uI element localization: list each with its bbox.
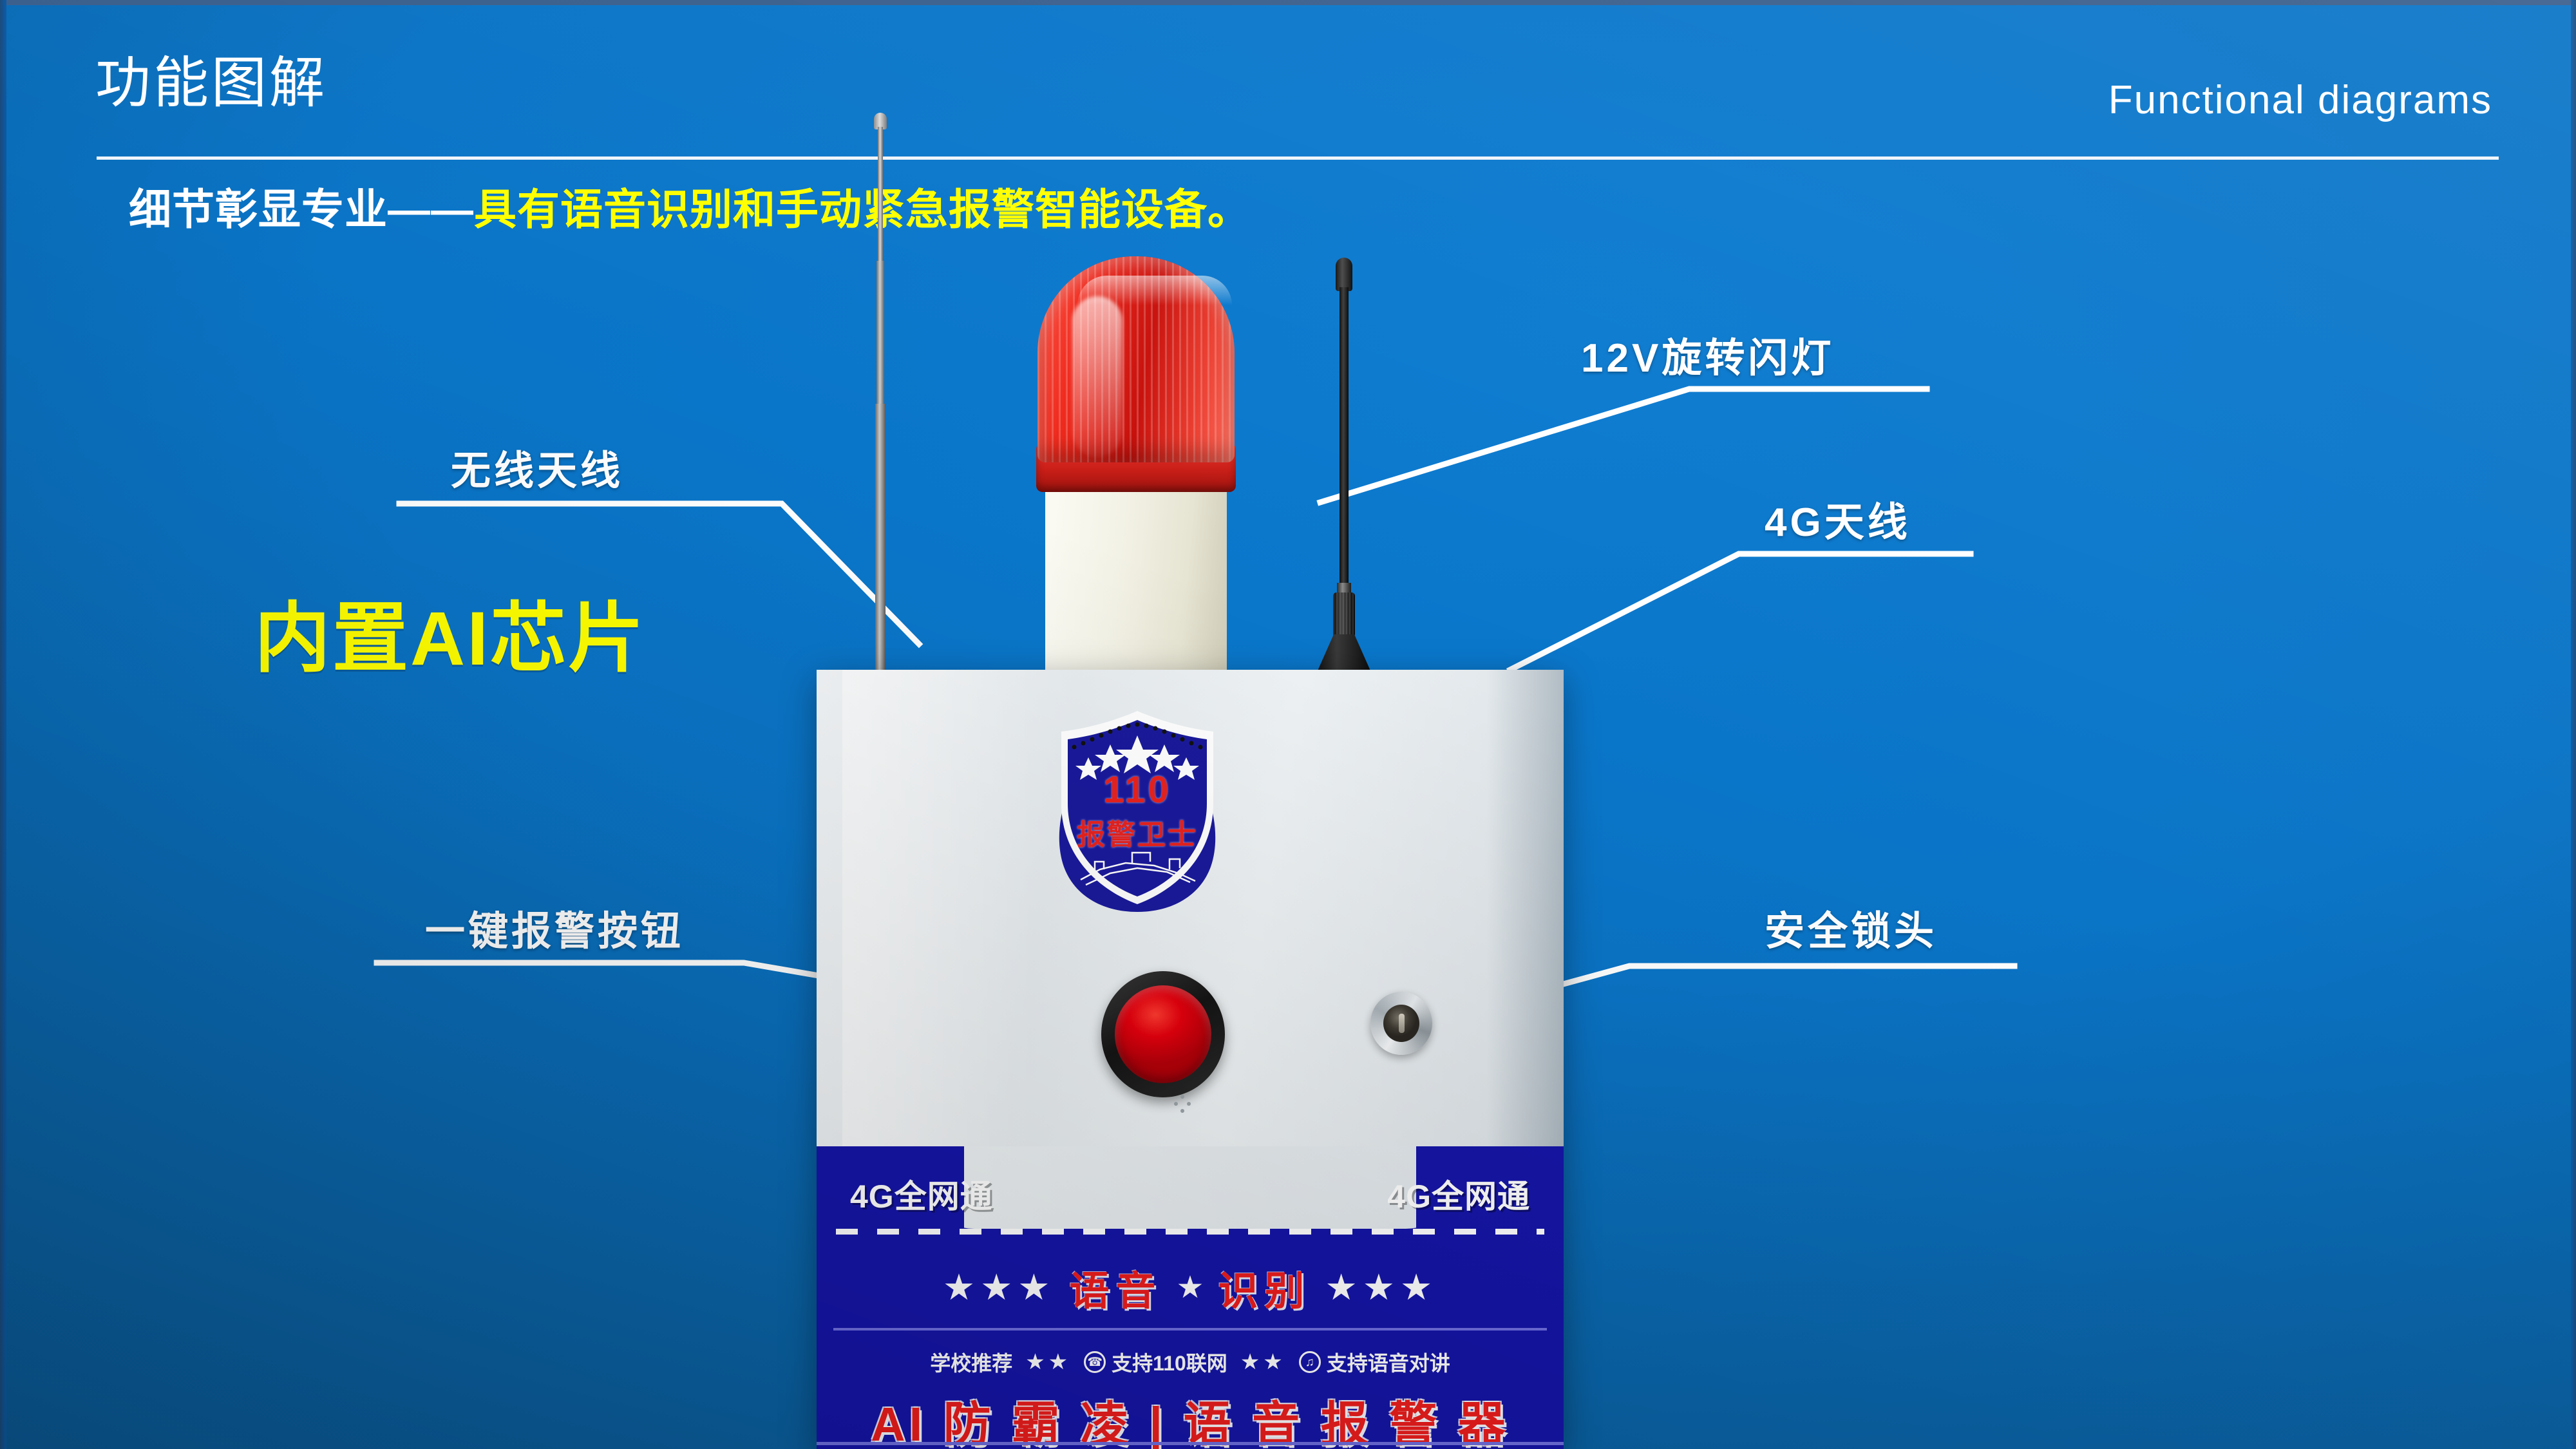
voice-word-right: 识别 xyxy=(1218,1258,1311,1316)
stars-left: ★★★ xyxy=(943,1269,1056,1305)
callout-label-alarm-button: 一键报警按钮 xyxy=(425,898,684,956)
device-photo: 110 报警卫士 xyxy=(817,670,1564,1449)
4g-antenna-tip xyxy=(1336,258,1352,291)
callout-label-wireless-antenna: 无线天线 xyxy=(451,438,623,496)
sticker-row-4g: 4G全网通 4G全网通 xyxy=(817,1155,1564,1230)
slide-canvas: 功能图解 Functional diagrams 细节彰显专业——具有语音识别和… xyxy=(0,0,2576,1449)
callout-label-beacon: 12V旋转闪灯 xyxy=(1581,325,1834,383)
sticker-row-features: 学校推荐 ★★ ☎ 支持110联网 ★★ ♫ 支持语音对讲 xyxy=(817,1337,1564,1387)
4g-antenna xyxy=(1306,258,1383,696)
leader-beacon xyxy=(1320,389,1927,502)
feature-intercom: 支持语音对讲 xyxy=(1327,1347,1450,1377)
beacon-dome xyxy=(1037,256,1235,462)
ai-chip-highlight: 内置AI芯片 xyxy=(254,576,646,687)
device-enclosure: 110 报警卫士 xyxy=(817,670,1564,1449)
4g-antenna-whip xyxy=(1340,287,1349,590)
lock-core[interactable] xyxy=(1383,1005,1419,1042)
sticker-thin-divider xyxy=(833,1328,1547,1331)
star-middle: ★ xyxy=(1176,1269,1204,1305)
callout-label-safety-lock: 安全锁头 xyxy=(1765,898,1937,956)
feature-110-group: ☎ 支持110联网 xyxy=(1084,1347,1227,1377)
sticker-product-name-row: AI 防 霸 凌 | 语 音 报 警 器 xyxy=(817,1386,1564,1448)
sticker-dashed-divider xyxy=(836,1229,1544,1235)
safety-lock-icon[interactable] xyxy=(1370,992,1432,1055)
feature-school: 学校推荐 xyxy=(930,1347,1012,1377)
4g-antenna-knurl xyxy=(1333,592,1355,638)
sticker-row-voice: ★★★ 语音 ★ 识别 ★★★ xyxy=(817,1248,1564,1327)
phone-circle-icon: ☎ xyxy=(1084,1351,1106,1373)
badge-name: 报警卫士 xyxy=(1041,811,1234,853)
feature-intercom-group: ♫ 支持语音对讲 xyxy=(1299,1347,1450,1377)
antenna-segment-1 xyxy=(878,127,883,265)
microphone-holes-icon xyxy=(1174,1095,1191,1115)
voice-word-left: 语音 xyxy=(1069,1258,1162,1316)
alarm-button-face[interactable] xyxy=(1115,985,1211,1083)
wireless-antenna xyxy=(872,113,889,692)
speaker-circle-icon: ♫ xyxy=(1299,1351,1321,1373)
badge-number: 110 xyxy=(1041,768,1234,811)
antenna-segment-2 xyxy=(876,261,884,409)
device-label-sticker: 4G全网通 4G全网通 ★★★ 语音 ★ 识别 ★★★ 学校推荐 ★★ ☎ xyxy=(817,1146,1564,1449)
stars-right: ★★★ xyxy=(1325,1269,1438,1305)
beacon-gloss xyxy=(1072,296,1122,457)
feature-stars-1: ★★ xyxy=(1025,1349,1071,1375)
leader-4g-antenna xyxy=(1510,554,1971,670)
tag-4g-right: 4G全网通 xyxy=(1387,1171,1530,1217)
sticker-bottom-divider xyxy=(817,1442,1564,1445)
callout-label-4g-antenna: 4G天线 xyxy=(1765,489,1911,547)
feature-110: 支持110联网 xyxy=(1112,1347,1227,1377)
antenna-segment-3 xyxy=(875,404,885,694)
lock-keyhole xyxy=(1399,1014,1405,1033)
product-name: AI 防 霸 凌 | 语 音 报 警 器 xyxy=(871,1397,1510,1449)
beacon-base xyxy=(1045,483,1227,684)
rotating-beacon-light xyxy=(1019,231,1251,681)
feature-stars-2: ★★ xyxy=(1240,1349,1286,1375)
tag-4g-left: 4G全网通 xyxy=(850,1171,993,1217)
police-badge: 110 报警卫士 xyxy=(1041,707,1234,913)
emergency-alarm-button[interactable] xyxy=(1101,971,1225,1097)
